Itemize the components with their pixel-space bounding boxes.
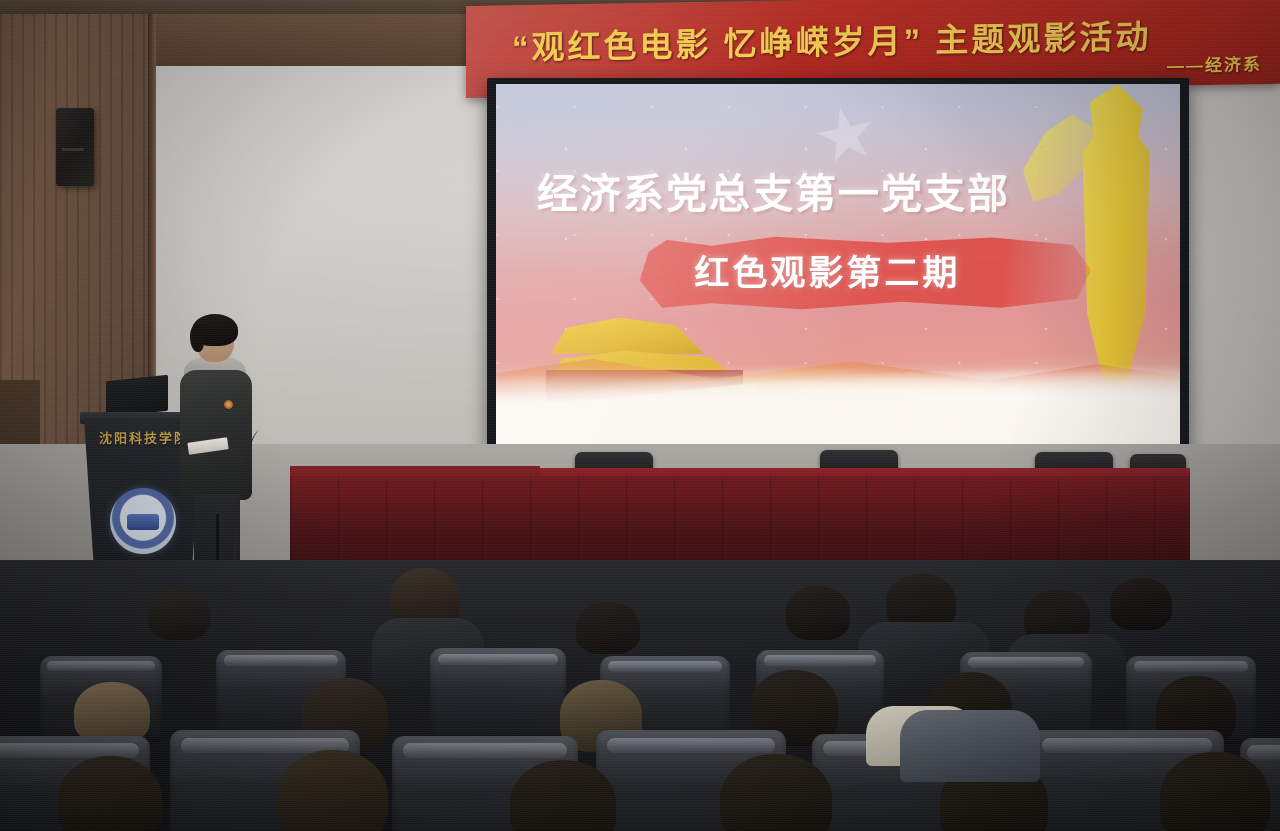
podium-laptop xyxy=(106,375,168,418)
audience-head xyxy=(720,754,832,831)
wall-speaker-icon xyxy=(56,108,94,186)
banner-main-text: “观红色电影 忆峥嵘岁月” 主题观影活动 xyxy=(512,8,1272,69)
audience-head xyxy=(74,682,150,744)
auditorium-photo: “观红色电影 忆峥嵘岁月” 主题观影活动 ——经济系 经济系党总支第一党支部 红… xyxy=(0,0,1280,831)
party-badge-icon xyxy=(224,400,233,409)
audience-head xyxy=(786,586,850,640)
audience-head xyxy=(1160,752,1270,831)
audience-head xyxy=(1110,578,1172,630)
presenter-hair-side xyxy=(190,324,204,352)
gate-roof-upper xyxy=(526,315,728,354)
audience-area xyxy=(0,560,1280,831)
audience-chair xyxy=(430,648,566,740)
projection-screen: 经济系党总支第一党支部 红色观影第二期 xyxy=(496,84,1180,462)
audience-shoulders xyxy=(900,710,1040,782)
projection-screen-frame: 经济系党总支第一党支部 红色观影第二期 xyxy=(487,78,1189,470)
banner-sub-text: ——经济系 xyxy=(1167,50,1262,77)
slide-title-line1: 经济系党总支第一党支部 xyxy=(537,160,1166,220)
audience-head xyxy=(58,756,162,831)
school-crest-emblem xyxy=(110,488,176,554)
audience-head xyxy=(278,750,388,831)
audience-head xyxy=(148,588,210,640)
slide-title-line2: 红色观影第二期 xyxy=(694,245,960,296)
audience-head xyxy=(576,602,640,654)
